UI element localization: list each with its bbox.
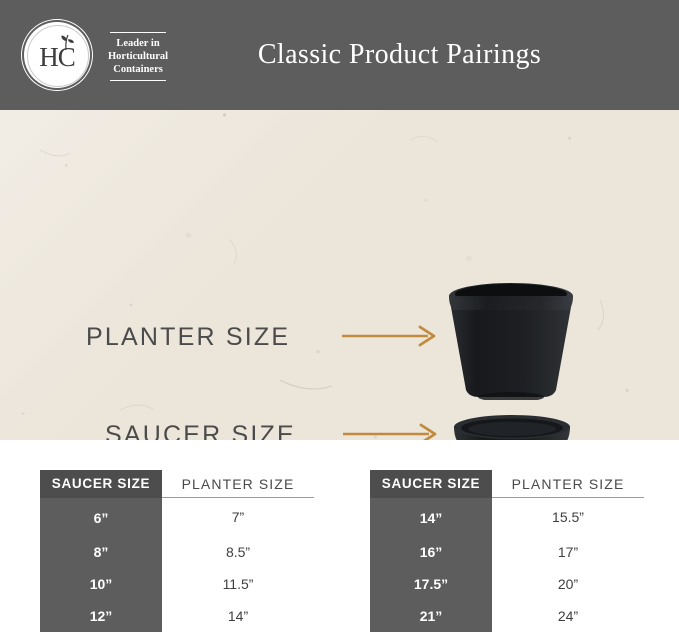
table-header-row: SAUCER SIZE PLANTER SIZE — [40, 470, 314, 498]
right-arrow-icon — [342, 324, 442, 348]
page-title: Classic Product Pairings — [0, 0, 679, 110]
col-header-planter-size: PLANTER SIZE — [492, 470, 644, 498]
table-row: 6” 7” — [40, 498, 314, 536]
cell-saucer-size: 6” — [40, 498, 162, 536]
size-chart-tables: SAUCER SIZE PLANTER SIZE 6” 7” 8” 8.5” 1… — [0, 470, 679, 636]
table-row: 10” 11.5” — [40, 568, 314, 600]
table-row: 14” 15.5” — [370, 498, 644, 536]
cell-planter-size: 8.5” — [162, 536, 314, 568]
cell-planter-size: 15.5” — [492, 498, 644, 536]
right-arrow-icon-2 — [343, 422, 443, 440]
hero-diagram: PLANTER SIZE — [0, 110, 679, 440]
cell-saucer-size: 8” — [40, 536, 162, 568]
page-header: HC Leader in Horticultural Containers Cl… — [0, 0, 679, 110]
table-header-row: SAUCER SIZE PLANTER SIZE — [370, 470, 644, 498]
col-header-saucer-size: SAUCER SIZE — [40, 470, 162, 498]
cell-planter-size: 11.5” — [162, 568, 314, 600]
size-table-left: SAUCER SIZE PLANTER SIZE 6” 7” 8” 8.5” 1… — [40, 470, 314, 632]
col-header-saucer-size: SAUCER SIZE — [370, 470, 492, 498]
cell-saucer-size: 12” — [40, 600, 162, 632]
table-row: 21” 24” — [370, 600, 644, 632]
leaf-icon — [55, 33, 79, 51]
saucer-dish-icon — [452, 413, 572, 440]
col-header-planter-size: PLANTER SIZE — [162, 470, 314, 498]
planter-pot-icon — [443, 278, 579, 400]
cell-planter-size: 20” — [492, 568, 644, 600]
table-row: 17.5” 20” — [370, 568, 644, 600]
cell-saucer-size: 16” — [370, 536, 492, 568]
size-table-right: SAUCER SIZE PLANTER SIZE 14” 15.5” 16” 1… — [370, 470, 644, 632]
cell-planter-size: 17” — [492, 536, 644, 568]
table-row: 8” 8.5” — [40, 536, 314, 568]
cell-saucer-size: 17.5” — [370, 568, 492, 600]
planter-size-label: PLANTER SIZE — [86, 323, 290, 352]
cell-saucer-size: 14” — [370, 498, 492, 536]
cell-saucer-size: 10” — [40, 568, 162, 600]
cell-planter-size: 24” — [492, 600, 644, 632]
table-row: 12” 14” — [40, 600, 314, 632]
table-row: 16” 17” — [370, 536, 644, 568]
saucer-size-label: SAUCER SIZE — [105, 421, 296, 440]
cell-planter-size: 7” — [162, 498, 314, 536]
infographic-page: HC Leader in Horticultural Containers Cl… — [0, 0, 679, 636]
cell-planter-size: 14” — [162, 600, 314, 632]
cell-saucer-size: 21” — [370, 600, 492, 632]
